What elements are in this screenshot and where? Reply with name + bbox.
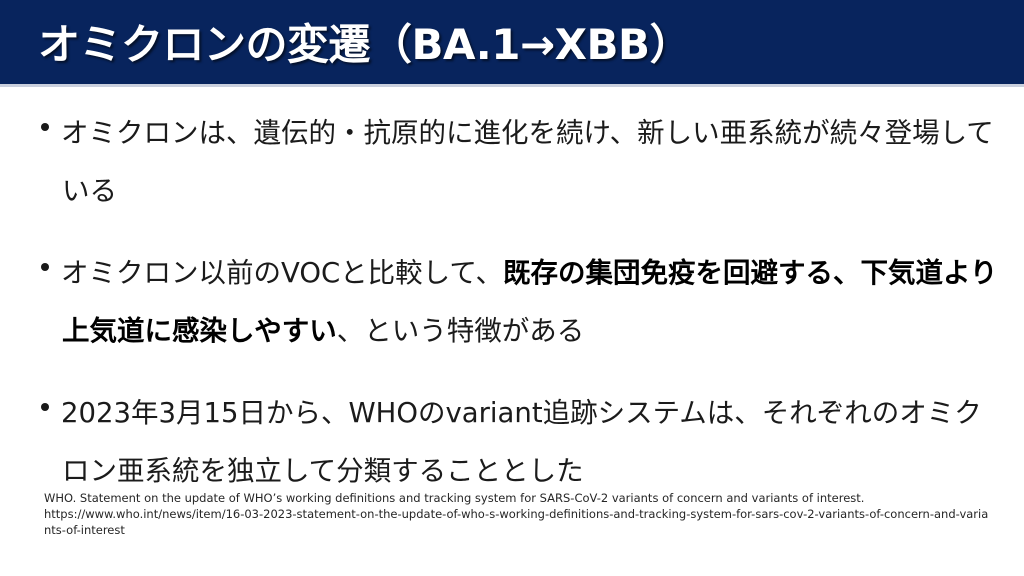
slide: オミクロンの変遷（BA.1→XBB） オミクロンは、遺伝的・抗原的に進化を続け、… [0, 0, 1024, 576]
title-bar-underline [0, 84, 1024, 87]
bullet-segment-plain: オミクロンは、遺伝的・抗原的に進化を続け、新しい亜系統が続々登場している [61, 117, 994, 207]
source-citation: WHO. Statement on the update of WHO’s wo… [44, 490, 994, 538]
bullet-text-1: オミクロンは、遺伝的・抗原的に進化を続け、新しい亜系統が続々登場している [62, 104, 998, 220]
bullet-list: オミクロンは、遺伝的・抗原的に進化を続け、新しい亜系統が続々登場している オミク… [0, 104, 1024, 524]
bullet-dot-icon [41, 403, 49, 411]
page-title: オミクロンの変遷（BA.1→XBB） [38, 11, 691, 72]
citation-title: WHO. Statement on the update of WHO’s wo… [44, 490, 994, 506]
bullet-text-3: 2023年3月15日から、WHOのvariant追跡システムは、それぞれのオミク… [62, 384, 998, 500]
bullet-text-2: オミクロン以前のVOCと比較して、既存の集団免疫を回避する、下気道より上気道に感… [62, 244, 998, 360]
citation-url: https://www.who.int/news/item/16-03-2023… [44, 506, 994, 538]
bullet-dot-icon [41, 123, 49, 131]
list-item: 2023年3月15日から、WHOのvariant追跡システムは、それぞれのオミク… [0, 384, 1024, 500]
bullet-dot-icon [41, 263, 49, 271]
list-item: オミクロン以前のVOCと比較して、既存の集団免疫を回避する、下気道より上気道に感… [0, 244, 1024, 360]
title-bar: オミクロンの変遷（BA.1→XBB） [0, 0, 1024, 84]
bullet-segment-plain-tail: 、という特徴がある [337, 315, 585, 347]
list-item: オミクロンは、遺伝的・抗原的に進化を続け、新しい亜系統が続々登場している [0, 104, 1024, 220]
bullet-segment-plain: 2023年3月15日から、WHOのvariant追跡システムは、それぞれのオミク… [61, 397, 982, 487]
bullet-segment-plain: オミクロン以前のVOCと比較して、 [61, 257, 503, 289]
